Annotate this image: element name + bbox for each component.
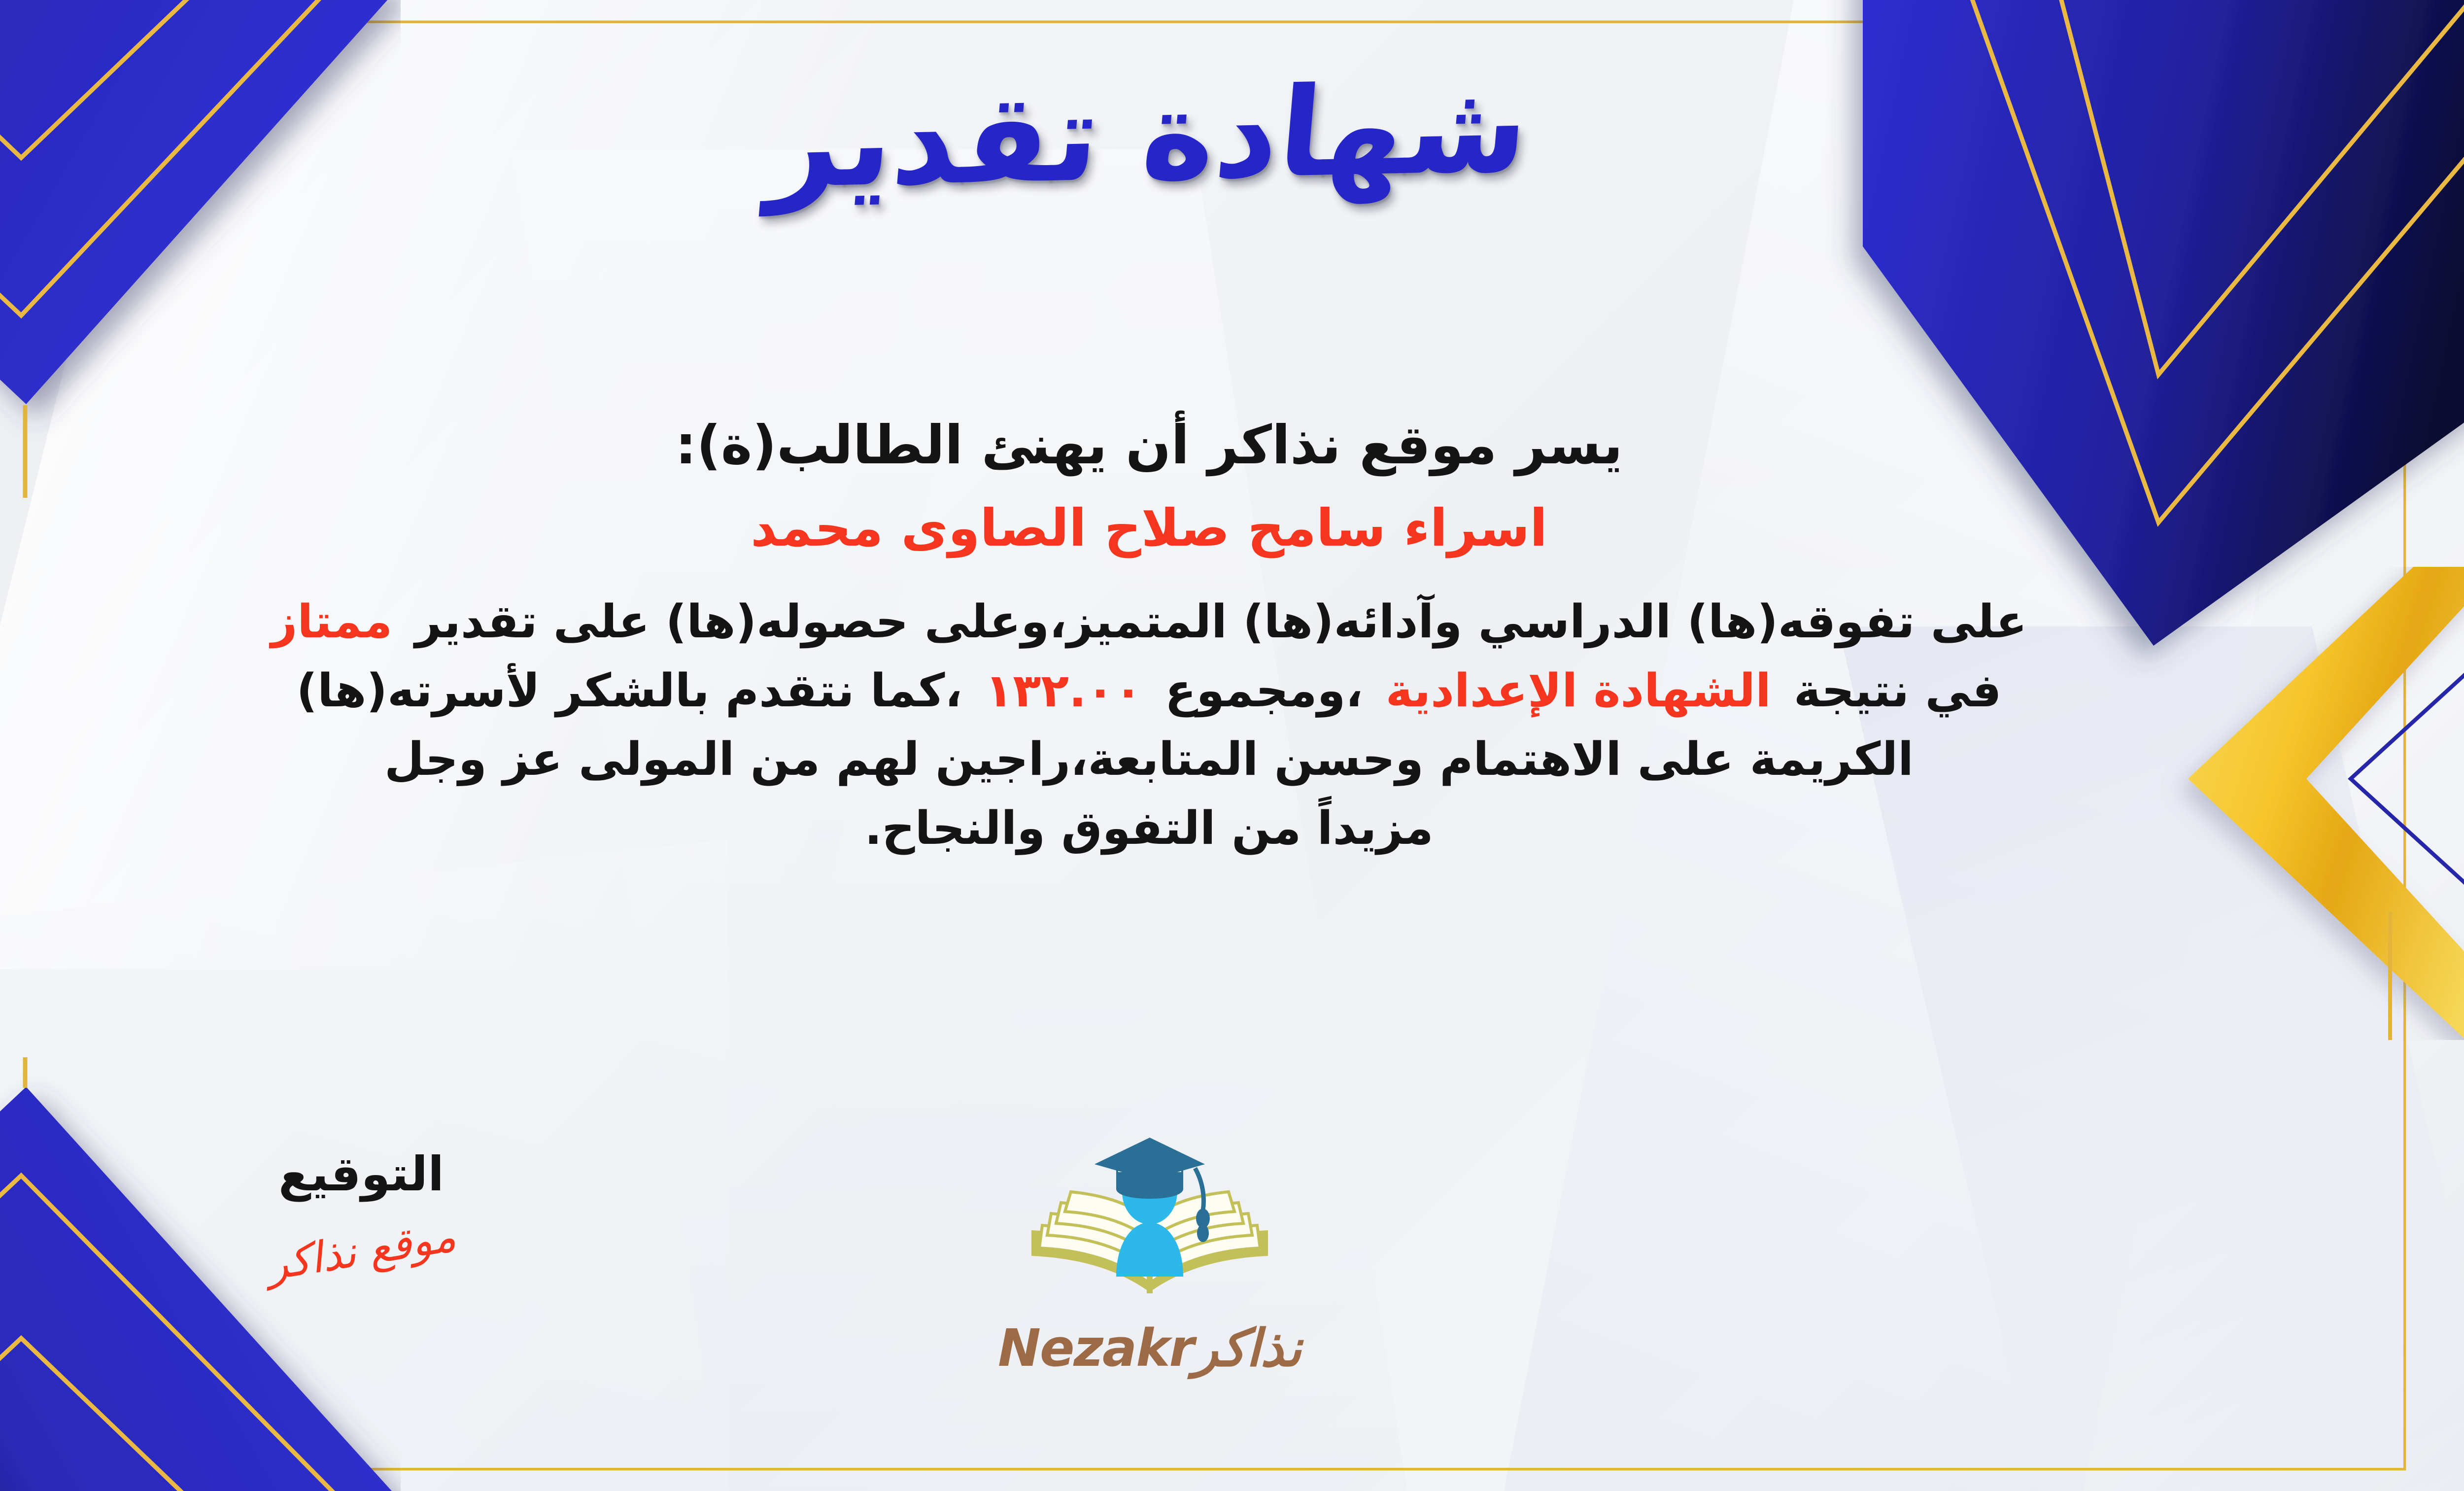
certificate-title-area: شهادة تقدير — [0, 59, 2464, 213]
certificate-body: يسر موقع نذاكر أن يهنئ الطالب(ة): اسراء … — [0, 414, 2301, 863]
total-score: ١٣٢.٠٠ — [985, 664, 1142, 717]
exam-name: الشهادة الإعدادية — [1386, 664, 1771, 717]
student-name: اسراء سامح صلاح الصاوى محمد — [0, 497, 2301, 559]
intro-line: يسر موقع نذاكر أن يهنئ الطالب(ة): — [0, 414, 2301, 477]
logo-wordmark: نذاكرNezakr — [962, 1318, 1337, 1378]
certificate-paragraph: على تفوقه(ها) الدراسي وآدائه(ها) المتميز… — [0, 588, 2301, 863]
paragraph-line-2: في نتيجةالشهادة الإعدادية،ومجموع١٣٢.٠٠،ك… — [0, 657, 2301, 726]
signature-label: التوقيع — [208, 1148, 514, 1201]
total-label: ،ومجموع — [1165, 664, 1363, 717]
certificate-page: شهادة تقدير يسر موقع نذاكر أن يهنئ الطال… — [0, 0, 2464, 1491]
result-label: في نتيجة — [1794, 664, 2002, 717]
thanks-text: ،كما نتقدم بالشكر لأسرته(ها) — [297, 664, 962, 717]
grade-value: ممتاز — [271, 595, 392, 648]
graduate-book-logo-icon — [1012, 1129, 1288, 1316]
signature-block: التوقيع موقع نذاكر — [208, 1148, 514, 1276]
paragraph-line-3: الكريمة على الاهتمام وحسن المتابعة،راجين… — [0, 725, 2301, 794]
logo-wordmark-latin: Nezakr — [998, 1318, 1194, 1378]
page-title: شهادة تقدير — [763, 51, 1535, 221]
site-logo: نذاكرNezakr — [962, 1129, 1337, 1378]
paragraph-line-1: على تفوقه(ها) الدراسي وآدائه(ها) المتميز… — [0, 588, 2301, 657]
paragraph-line-4: مزيداً من التفوق والنجاح. — [0, 794, 2301, 863]
logo-wordmark-arabic: نذاكر — [1194, 1318, 1301, 1378]
paragraph-line-1-text: على تفوقه(ها) الدراسي وآدائه(ها) المتميز… — [415, 595, 2027, 648]
